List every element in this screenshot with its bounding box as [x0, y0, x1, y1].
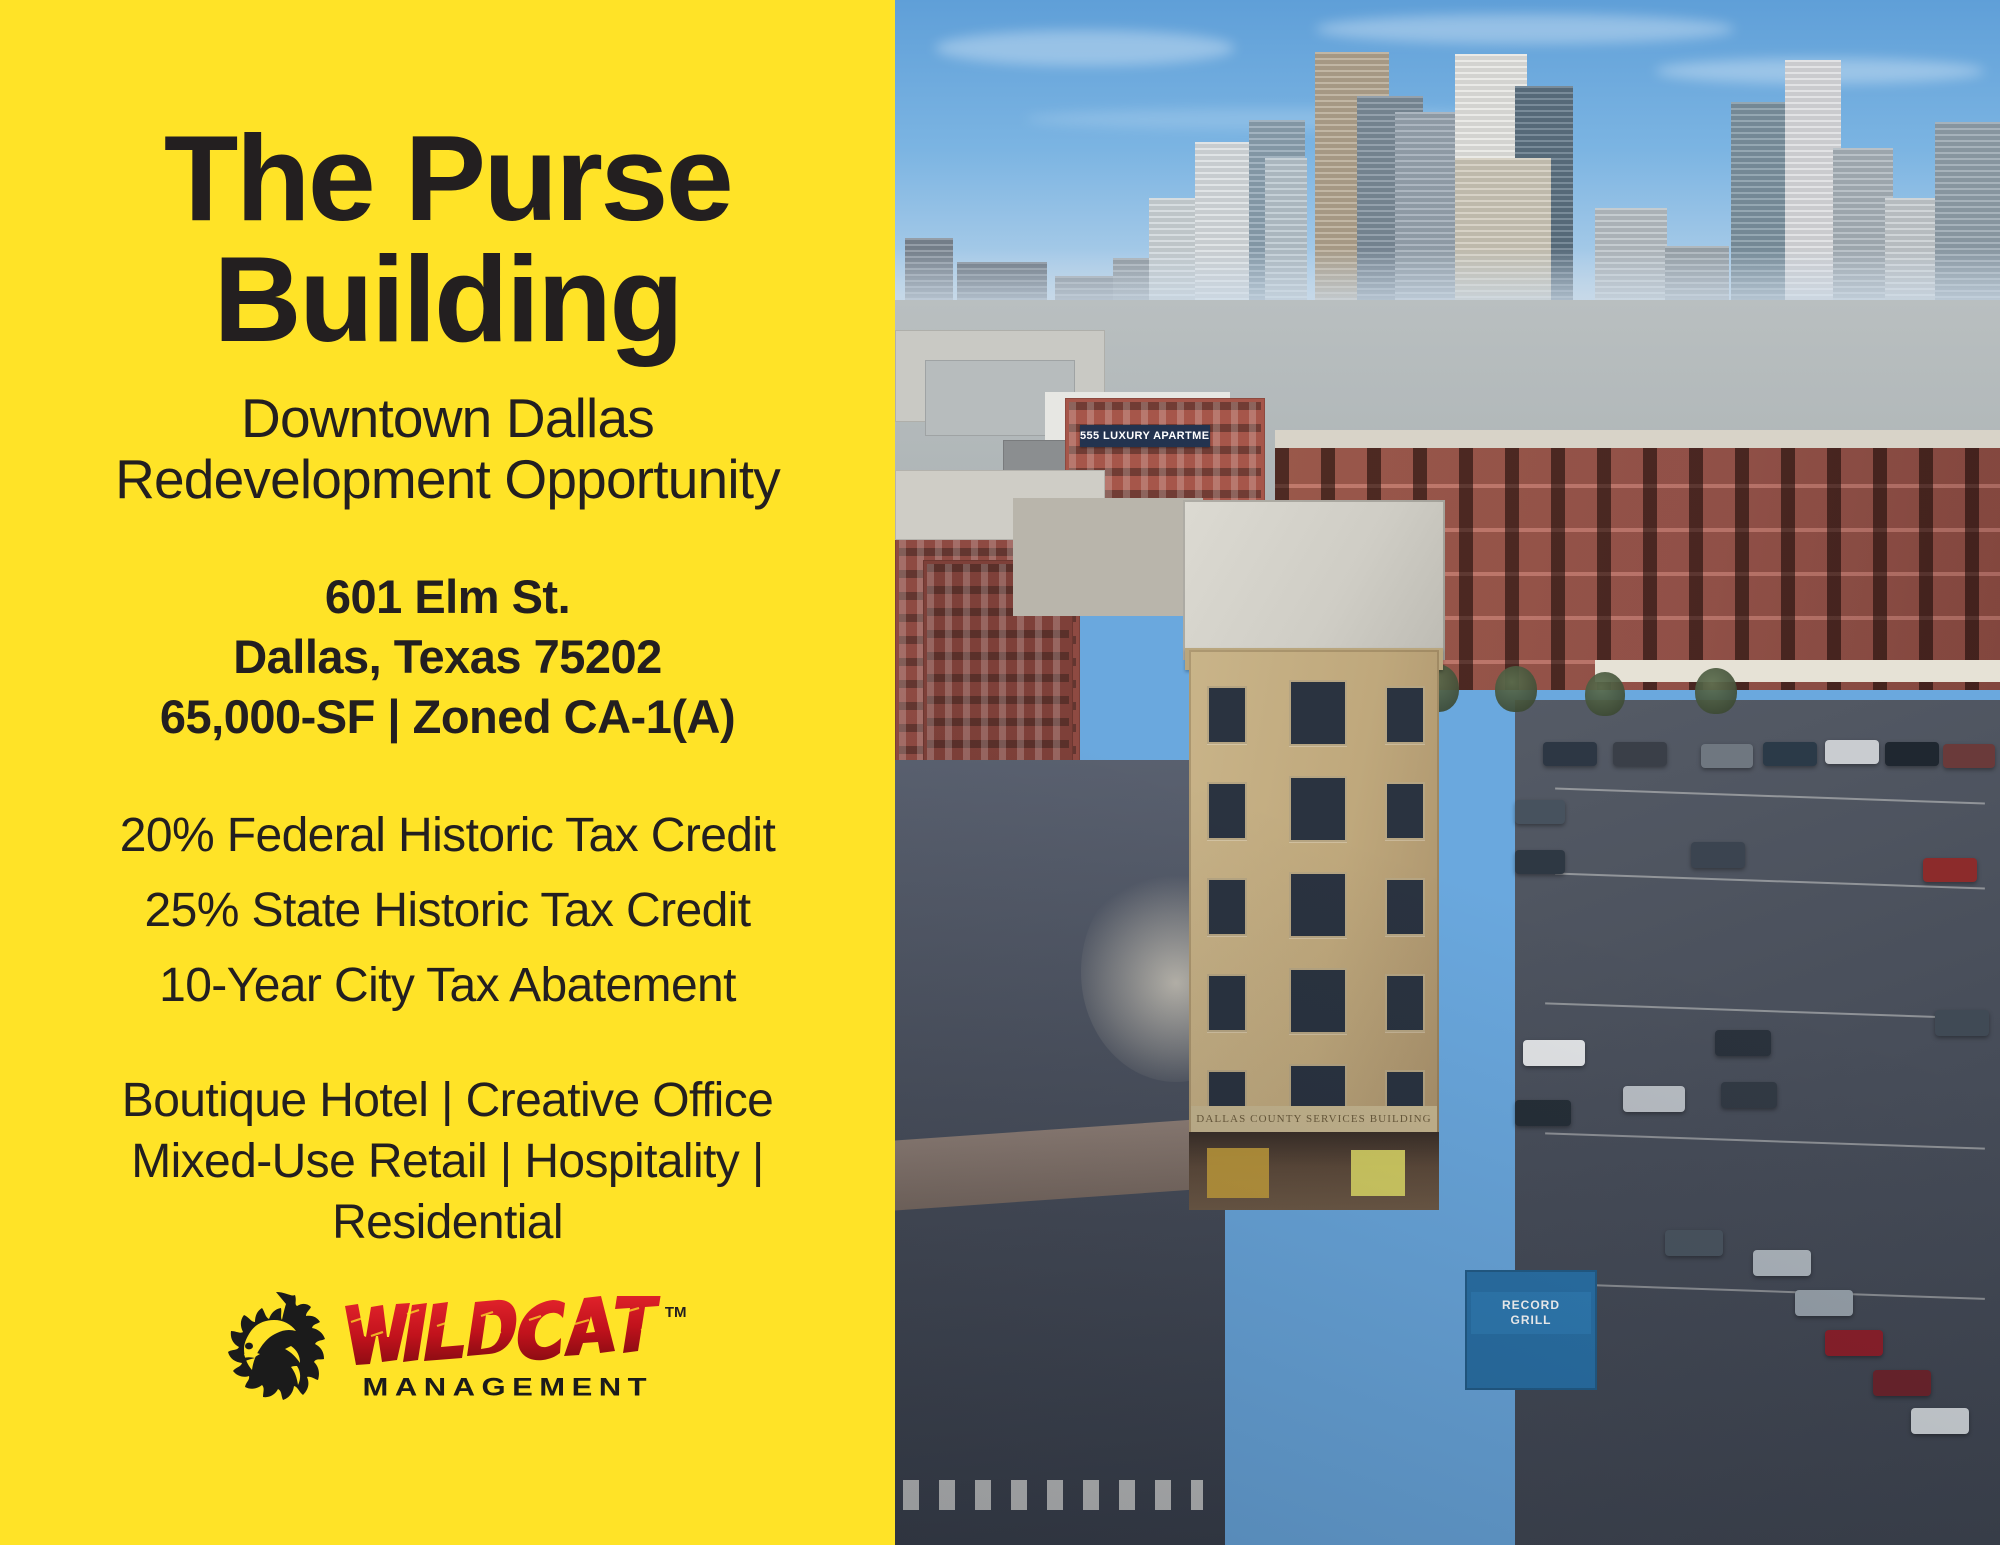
tree: [1585, 672, 1625, 716]
parked-car: [1825, 740, 1879, 764]
use-item: Residential: [0, 1192, 895, 1253]
parked-car: [1763, 742, 1817, 766]
parked-car: [1613, 742, 1667, 766]
flat-rooftop: [1013, 498, 1203, 616]
address-city-state-zip: Dallas, Texas 75202: [0, 627, 895, 687]
parked-car: [1795, 1290, 1853, 1316]
subtitle-line-2: Redevelopment Opportunity: [0, 449, 895, 511]
logo-text-block: TM MANAGEMENT: [341, 1290, 683, 1408]
parked-car: [1515, 850, 1565, 874]
building-window: [1207, 782, 1247, 840]
building-window: [1385, 974, 1425, 1032]
parked-car: [1515, 1100, 1571, 1126]
building-window: [1289, 776, 1347, 842]
apartments-sign: 555 LUXURY APARTMENTS: [1080, 425, 1210, 447]
parked-car: [1701, 744, 1753, 768]
storefront-window: [1207, 1148, 1269, 1198]
proposed-uses-list: Boutique Hotel | Creative Office Mixed-U…: [0, 1070, 895, 1254]
wildcat-wordmark-icon: [341, 1296, 671, 1366]
parked-truck: [1523, 1040, 1585, 1066]
use-item: Boutique Hotel | Creative Office: [0, 1070, 895, 1131]
purse-building: DALLAS COUNTY SERVICES BUILDING: [1183, 500, 1445, 1210]
building-window: [1289, 968, 1347, 1034]
crosswalk: [903, 1480, 1203, 1510]
parked-car: [1753, 1250, 1811, 1276]
parked-car: [1911, 1408, 1969, 1434]
address-block: 601 Elm St. Dallas, Texas 75202 65,000-S…: [0, 567, 895, 747]
use-item: Mixed-Use Retail | Hospitality |: [0, 1131, 895, 1192]
warehouse-parapet: [1275, 430, 2000, 448]
subtitle: Downtown Dallas Redevelopment Opportunit…: [0, 388, 895, 511]
parked-car: [1885, 742, 1939, 766]
record-grill-sign: RECORD GRILL: [1471, 1292, 1591, 1334]
address-street: 601 Elm St.: [0, 567, 895, 627]
building-window: [1207, 974, 1247, 1032]
parked-car: [1715, 1030, 1771, 1056]
info-panel: The Purse Building Downtown Dallas Redev…: [0, 0, 895, 1545]
parked-car: [1873, 1370, 1931, 1396]
building-window: [1385, 686, 1425, 744]
subtitle-line-1: Downtown Dallas: [0, 388, 895, 450]
parked-car: [1623, 1086, 1685, 1112]
incentives-list: 20% Federal Historic Tax Credit 25% Stat…: [0, 799, 895, 1023]
building-window: [1207, 878, 1247, 936]
lion-head-icon: [213, 1288, 339, 1406]
parked-car: [1943, 744, 1995, 768]
warehouse-awning: [1595, 660, 2000, 682]
incentive-item: 25% State Historic Tax Credit: [0, 874, 895, 949]
property-aerial-photo: 555 LUXURY APARTMENTS: [895, 0, 2000, 1545]
parked-car: [1923, 858, 1977, 882]
title-line-2: Building: [0, 239, 895, 360]
building-facade-sign: DALLAS COUNTY SERVICES BUILDING: [1191, 1106, 1437, 1132]
logo-tagline: MANAGEMENT: [363, 1372, 654, 1402]
parked-car: [1721, 1082, 1777, 1108]
building-window: [1207, 686, 1247, 744]
storefront-window: [1351, 1150, 1405, 1196]
title-line-1: The Purse: [0, 118, 895, 239]
marketing-flyer: The Purse Building Downtown Dallas Redev…: [0, 0, 2000, 1545]
cloud: [935, 30, 1235, 66]
incentive-item: 10-Year City Tax Abatement: [0, 949, 895, 1024]
trademark-symbol: TM: [665, 1304, 687, 1321]
address-size-zoning: 65,000-SF | Zoned CA-1(A): [0, 687, 895, 747]
building-window: [1289, 872, 1347, 938]
tree: [1495, 666, 1537, 712]
building-window: [1385, 878, 1425, 936]
brand-logo: TM MANAGEMENT: [0, 1288, 895, 1410]
cloud: [1315, 14, 1735, 44]
building-window: [1289, 680, 1347, 746]
incentive-item: 20% Federal Historic Tax Credit: [0, 799, 895, 874]
building-window: [1385, 782, 1425, 840]
parked-car: [1825, 1330, 1883, 1356]
parked-car: [1691, 842, 1745, 868]
building-roof: [1183, 500, 1445, 660]
parked-car: [1935, 1010, 1989, 1036]
record-grill-storefront: RECORD GRILL: [1465, 1270, 1597, 1390]
parked-car: [1543, 742, 1597, 766]
tree: [1695, 668, 1737, 714]
parked-car: [1665, 1230, 1723, 1256]
page-title: The Purse Building: [0, 118, 895, 360]
parked-car: [1515, 800, 1565, 824]
